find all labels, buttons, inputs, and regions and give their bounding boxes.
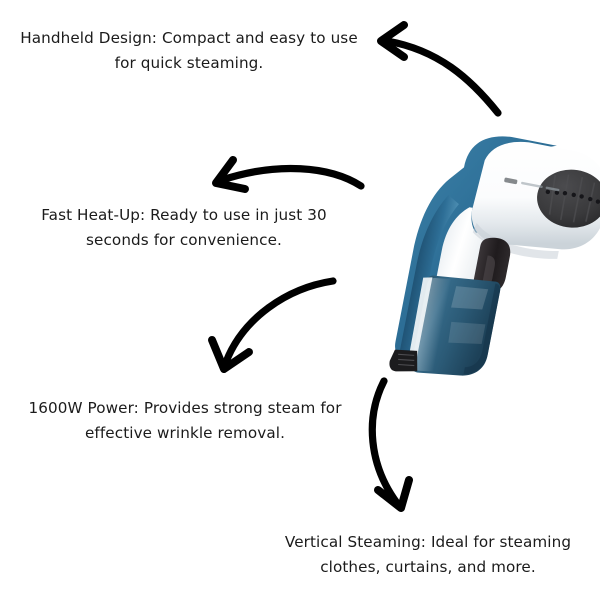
infographic-canvas: Handheld Design: Compact and easy to use… bbox=[0, 0, 600, 600]
feature-text-fast-heat-up: Fast Heat-Up: Ready to use in just 30 se… bbox=[6, 203, 362, 252]
feature-text-power: 1600W Power: Provides strong steam for e… bbox=[4, 396, 366, 445]
feature-text-handheld-design: Handheld Design: Compact and easy to use… bbox=[8, 26, 370, 75]
product-image bbox=[0, 0, 600, 600]
product-group bbox=[388, 122, 600, 405]
feature-text-vertical-steaming: Vertical Steaming: Ideal for steaming cl… bbox=[258, 530, 598, 579]
